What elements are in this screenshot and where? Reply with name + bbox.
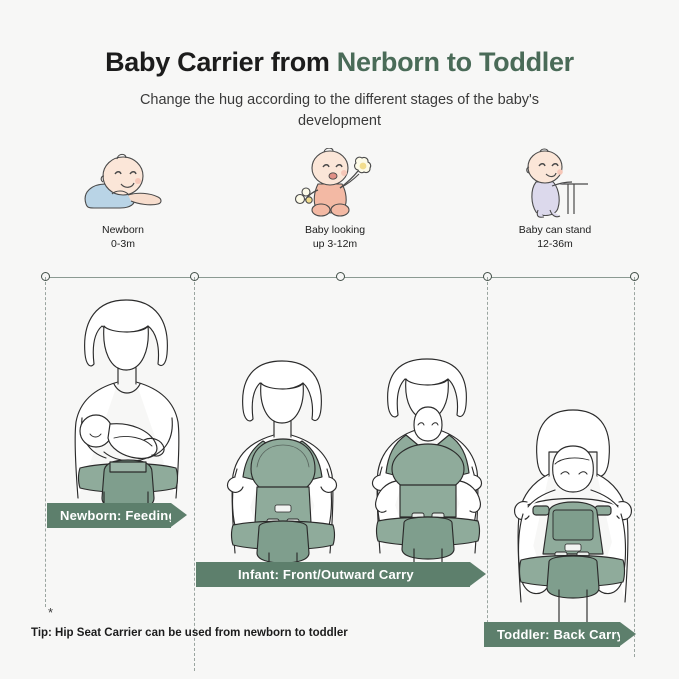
timeline-marker (336, 272, 345, 281)
stage-item-newborn: Newborn 0-3m (33, 148, 213, 252)
banner-body: Newborn: Feeding (47, 503, 171, 528)
banner-infant-front-outward-carry: Infant: Front/Outward Carry (196, 562, 486, 587)
banner-arrow-tip (470, 562, 486, 586)
stage-label-line2: 0-3m (111, 238, 135, 250)
stage-icon-row: Newborn 0-3m (0, 148, 679, 266)
banner-arrow-tip (171, 503, 187, 527)
stage-label-line2: up 3-12m (313, 238, 357, 250)
banner-arrow-tip (620, 622, 636, 646)
footnote-text: Tip: Hip Seat Carrier can be used from n… (31, 627, 348, 639)
stage-label-line1: Baby can stand (519, 224, 591, 236)
stage-label-baby-can-stand: Baby can stand 12-36m (465, 224, 645, 252)
subtitle-line-1: Change the hug according to the differen… (140, 92, 494, 108)
title-part-black: Baby Carrier from (105, 47, 337, 77)
stage-label-line1: Baby looking (305, 224, 365, 236)
stage-label-baby-looking-up: Baby looking up 3-12m (245, 224, 425, 252)
infant-front-carry-illustration (207, 357, 357, 572)
baby-standing-icon (465, 148, 645, 220)
banner-label: Toddler: Back Carry (497, 627, 624, 642)
banner-body: Toddler: Back Carry (484, 622, 620, 647)
stage-label-newborn: Newborn 0-3m (33, 224, 213, 252)
stage-label-line2: 12-36m (537, 238, 573, 250)
page-title: Baby Carrier from Nerborn to Toddler (0, 48, 679, 78)
infographic-root: Baby Carrier from Nerborn to Toddler Cha… (0, 0, 679, 679)
title-part-green: Nerborn to Toddler (337, 47, 574, 77)
timeline (0, 265, 679, 295)
page-subtitle: Change the hug according to the differen… (110, 90, 569, 132)
banner-label: Newborn: Feeding (60, 508, 177, 523)
newborn-feeding-illustration (52, 292, 202, 522)
toddler-back-carry-illustration (497, 402, 647, 624)
banner-label: Infant: Front/Outward Carry (238, 567, 414, 582)
baby-sitting-icon (245, 148, 425, 220)
infant-outward-carry-illustration (352, 357, 502, 572)
section-divider (45, 277, 46, 607)
banner-toddler-back-carry: Toddler: Back Carry (484, 622, 636, 647)
stage-item-baby-looking-up: Baby looking up 3-12m (245, 148, 425, 252)
banner-body: Infant: Front/Outward Carry (196, 562, 470, 587)
stage-label-line1: Newborn (102, 224, 144, 236)
stage-item-baby-can-stand: Baby can stand 12-36m (465, 148, 645, 252)
banner-newborn-feeding: Newborn: Feeding (47, 503, 187, 528)
footnote-asterisk: * (48, 606, 53, 619)
baby-lying-icon (33, 148, 213, 220)
